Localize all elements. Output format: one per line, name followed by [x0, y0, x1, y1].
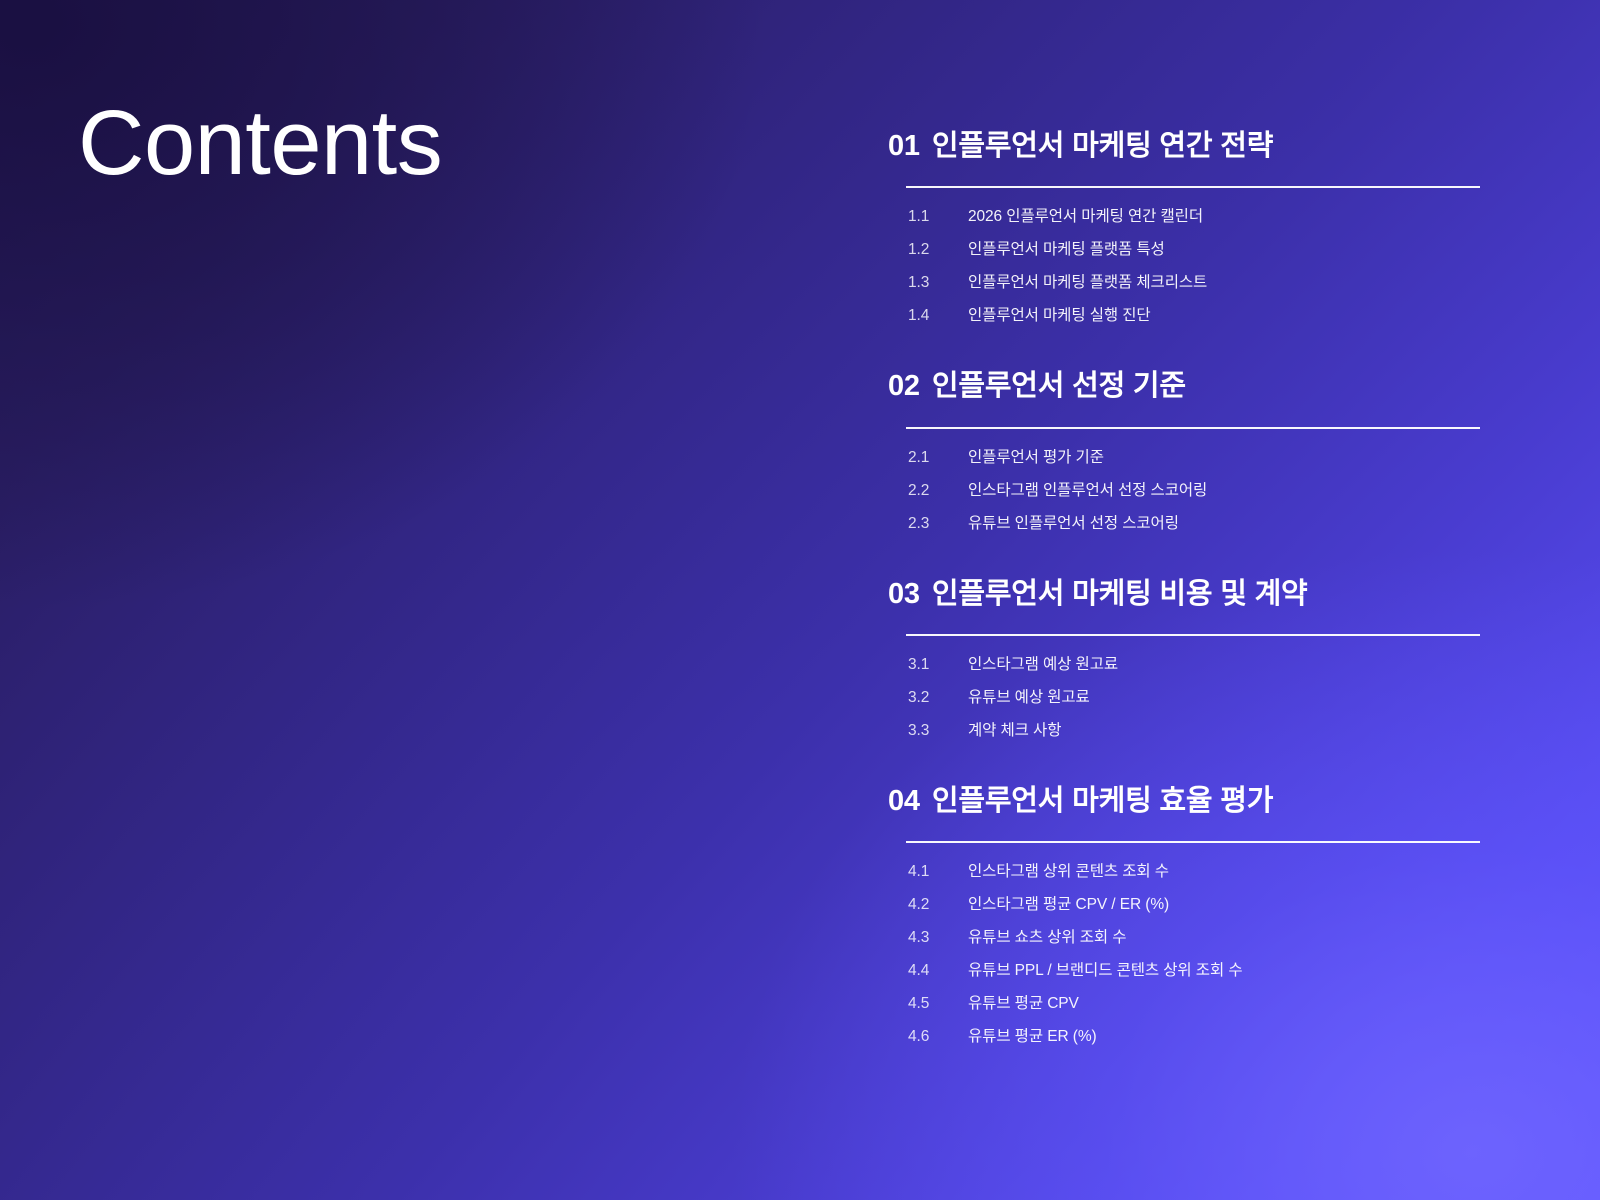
toc-item-number: 2.1	[908, 449, 968, 467]
toc-item-label: 인플루언서 마케팅 실행 진단	[968, 303, 1151, 325]
toc-item-list-04: 4.1 인스타그램 상위 콘텐츠 조회 수 4.2 인스타그램 평균 CPV /…	[888, 859, 1488, 1057]
toc-item-4-1[interactable]: 4.1 인스타그램 상위 콘텐츠 조회 수	[888, 859, 1488, 892]
section-heading-02: 02 인플루언서 선정 기준	[888, 368, 1488, 404]
toc-item-number: 2.2	[908, 482, 968, 500]
toc-item-number: 1.4	[908, 307, 968, 325]
toc-item-3-1[interactable]: 3.1 인스타그램 예상 원고료	[888, 652, 1488, 685]
toc-item-number: 3.1	[908, 656, 968, 674]
toc-item-list-03: 3.1 인스타그램 예상 원고료 3.2 유튜브 예상 원고료 3.3 계약 체…	[888, 652, 1488, 751]
section-number-04: 04	[888, 783, 920, 819]
section-heading-03: 03 인플루언서 마케팅 비용 및 계약	[888, 576, 1488, 612]
toc-item-label: 인스타그램 예상 원고료	[968, 652, 1118, 674]
toc-item-4-6[interactable]: 4.6 유튜브 평균 ER (%)	[888, 1024, 1488, 1057]
toc-item-number: 4.1	[908, 863, 968, 881]
toc-item-number: 1.1	[908, 208, 968, 226]
section-divider-01	[906, 186, 1480, 188]
toc-section-02: 02 인플루언서 선정 기준 2.1 인플루언서 평가 기준 2.2 인스타그램…	[888, 368, 1488, 543]
toc-item-label: 인스타그램 상위 콘텐츠 조회 수	[968, 859, 1169, 881]
toc-item-number: 2.3	[908, 515, 968, 533]
toc-item-label: 2026 인플루언서 마케팅 연간 캘린더	[968, 204, 1203, 226]
section-title-02: 인플루언서 선정 기준	[932, 368, 1186, 404]
toc-item-number: 4.5	[908, 995, 968, 1013]
section-divider-03	[906, 634, 1480, 636]
toc-section-03: 03 인플루언서 마케팅 비용 및 계약 3.1 인스타그램 예상 원고료 3.…	[888, 576, 1488, 751]
toc-item-label: 유튜브 인플루언서 선정 스코어링	[968, 511, 1179, 533]
section-title-03: 인플루언서 마케팅 비용 및 계약	[932, 576, 1308, 612]
section-heading-04: 04 인플루언서 마케팅 효율 평가	[888, 783, 1488, 819]
toc-item-number: 1.2	[908, 241, 968, 259]
toc-item-number: 4.6	[908, 1028, 968, 1046]
toc-item-4-2[interactable]: 4.2 인스타그램 평균 CPV / ER (%)	[888, 892, 1488, 925]
page-title: Contents	[78, 95, 442, 192]
toc-item-1-2[interactable]: 1.2 인플루언서 마케팅 플랫폼 특성	[888, 237, 1488, 270]
section-divider-04	[906, 841, 1480, 843]
toc-item-4-4[interactable]: 4.4 유튜브 PPL / 브랜디드 콘텐츠 상위 조회 수	[888, 958, 1488, 991]
toc-item-4-5[interactable]: 4.5 유튜브 평균 CPV	[888, 991, 1488, 1024]
toc-item-label: 유튜브 평균 CPV	[968, 991, 1079, 1013]
table-of-contents: 01 인플루언서 마케팅 연간 전략 1.1 2026 인플루언서 마케팅 연간…	[888, 128, 1488, 1057]
section-title-04: 인플루언서 마케팅 효율 평가	[932, 783, 1273, 819]
toc-item-number: 4.4	[908, 962, 968, 980]
toc-item-label: 인스타그램 평균 CPV / ER (%)	[968, 892, 1169, 914]
toc-item-label: 인스타그램 인플루언서 선정 스코어링	[968, 478, 1207, 500]
toc-item-2-2[interactable]: 2.2 인스타그램 인플루언서 선정 스코어링	[888, 478, 1488, 511]
section-number-01: 01	[888, 128, 920, 164]
toc-section-01: 01 인플루언서 마케팅 연간 전략 1.1 2026 인플루언서 마케팅 연간…	[888, 128, 1488, 336]
toc-section-04: 04 인플루언서 마케팅 효율 평가 4.1 인스타그램 상위 콘텐츠 조회 수…	[888, 783, 1488, 1057]
section-divider-02	[906, 427, 1480, 429]
toc-item-label: 유튜브 쇼츠 상위 조회 수	[968, 925, 1126, 947]
toc-item-label: 유튜브 PPL / 브랜디드 콘텐츠 상위 조회 수	[968, 958, 1242, 980]
toc-item-2-3[interactable]: 2.3 유튜브 인플루언서 선정 스코어링	[888, 511, 1488, 544]
toc-item-number: 1.3	[908, 274, 968, 292]
toc-item-3-2[interactable]: 3.2 유튜브 예상 원고료	[888, 685, 1488, 718]
section-heading-01: 01 인플루언서 마케팅 연간 전략	[888, 128, 1488, 164]
toc-item-1-1[interactable]: 1.1 2026 인플루언서 마케팅 연간 캘린더	[888, 204, 1488, 237]
toc-item-label: 계약 체크 사항	[968, 718, 1061, 740]
toc-item-1-4[interactable]: 1.4 인플루언서 마케팅 실행 진단	[888, 303, 1488, 336]
toc-item-4-3[interactable]: 4.3 유튜브 쇼츠 상위 조회 수	[888, 925, 1488, 958]
toc-item-label: 유튜브 평균 ER (%)	[968, 1024, 1097, 1046]
toc-item-label: 인플루언서 평가 기준	[968, 445, 1104, 467]
toc-item-list-02: 2.1 인플루언서 평가 기준 2.2 인스타그램 인플루언서 선정 스코어링 …	[888, 445, 1488, 544]
section-title-01: 인플루언서 마케팅 연간 전략	[932, 128, 1273, 164]
toc-item-label: 유튜브 예상 원고료	[968, 685, 1090, 707]
slide-page: Contents 01 인플루언서 마케팅 연간 전략 1.1 2026 인플루…	[0, 0, 1600, 1200]
toc-item-label: 인플루언서 마케팅 플랫폼 체크리스트	[968, 270, 1207, 292]
toc-item-label: 인플루언서 마케팅 플랫폼 특성	[968, 237, 1165, 259]
section-number-03: 03	[888, 576, 920, 612]
toc-item-number: 3.3	[908, 722, 968, 740]
toc-item-list-01: 1.1 2026 인플루언서 마케팅 연간 캘린더 1.2 인플루언서 마케팅 …	[888, 204, 1488, 336]
toc-item-number: 3.2	[908, 689, 968, 707]
toc-item-number: 4.3	[908, 929, 968, 947]
section-number-02: 02	[888, 368, 920, 404]
toc-item-2-1[interactable]: 2.1 인플루언서 평가 기준	[888, 445, 1488, 478]
toc-item-1-3[interactable]: 1.3 인플루언서 마케팅 플랫폼 체크리스트	[888, 270, 1488, 303]
toc-item-number: 4.2	[908, 896, 968, 914]
toc-item-3-3[interactable]: 3.3 계약 체크 사항	[888, 718, 1488, 751]
